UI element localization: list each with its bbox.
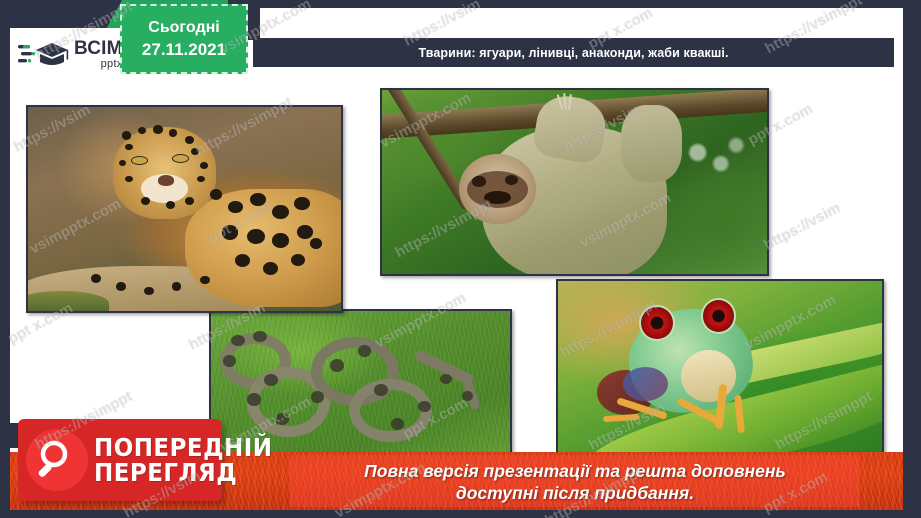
logo-name: ВСІМ	[74, 39, 123, 58]
logo-subtitle: pptx	[74, 59, 123, 70]
date-badge-value: 27.11.2021	[142, 40, 226, 60]
preview-badge-line1: ПОПЕРЕДНІЙ	[94, 435, 272, 461]
sloth-photo	[380, 88, 769, 276]
magnifier-icon	[26, 429, 88, 491]
slide-title-bar: Тварини: ягуари, лінивці, анаконди, жаби…	[253, 38, 894, 67]
graduation-cap-icon	[18, 37, 70, 71]
today-date-badge: Сьогодні 27.11.2021	[120, 4, 248, 74]
preview-badge-line2: ПЕРЕГЛЯД	[94, 460, 272, 486]
tree-frog-photo	[556, 279, 884, 455]
date-badge-label: Сьогодні	[148, 19, 219, 37]
page-title: Тварини: ягуари, лінивці, анаконди, жаби…	[418, 46, 728, 60]
presentation-slide: ВСІМ pptx Сьогодні 27.11.2021 Тварини: я…	[0, 0, 921, 518]
footer-line-1: Повна версія презентації та решта доповн…	[364, 461, 786, 482]
footer-line-2: доступні після придбання.	[456, 483, 694, 504]
jaguar-photo	[26, 105, 343, 313]
preview-badge[interactable]: ПОПЕРЕДНІЙ ПЕРЕГЛЯД	[18, 419, 222, 501]
footer-message: Повна версія презентації та решта доповн…	[250, 455, 900, 509]
